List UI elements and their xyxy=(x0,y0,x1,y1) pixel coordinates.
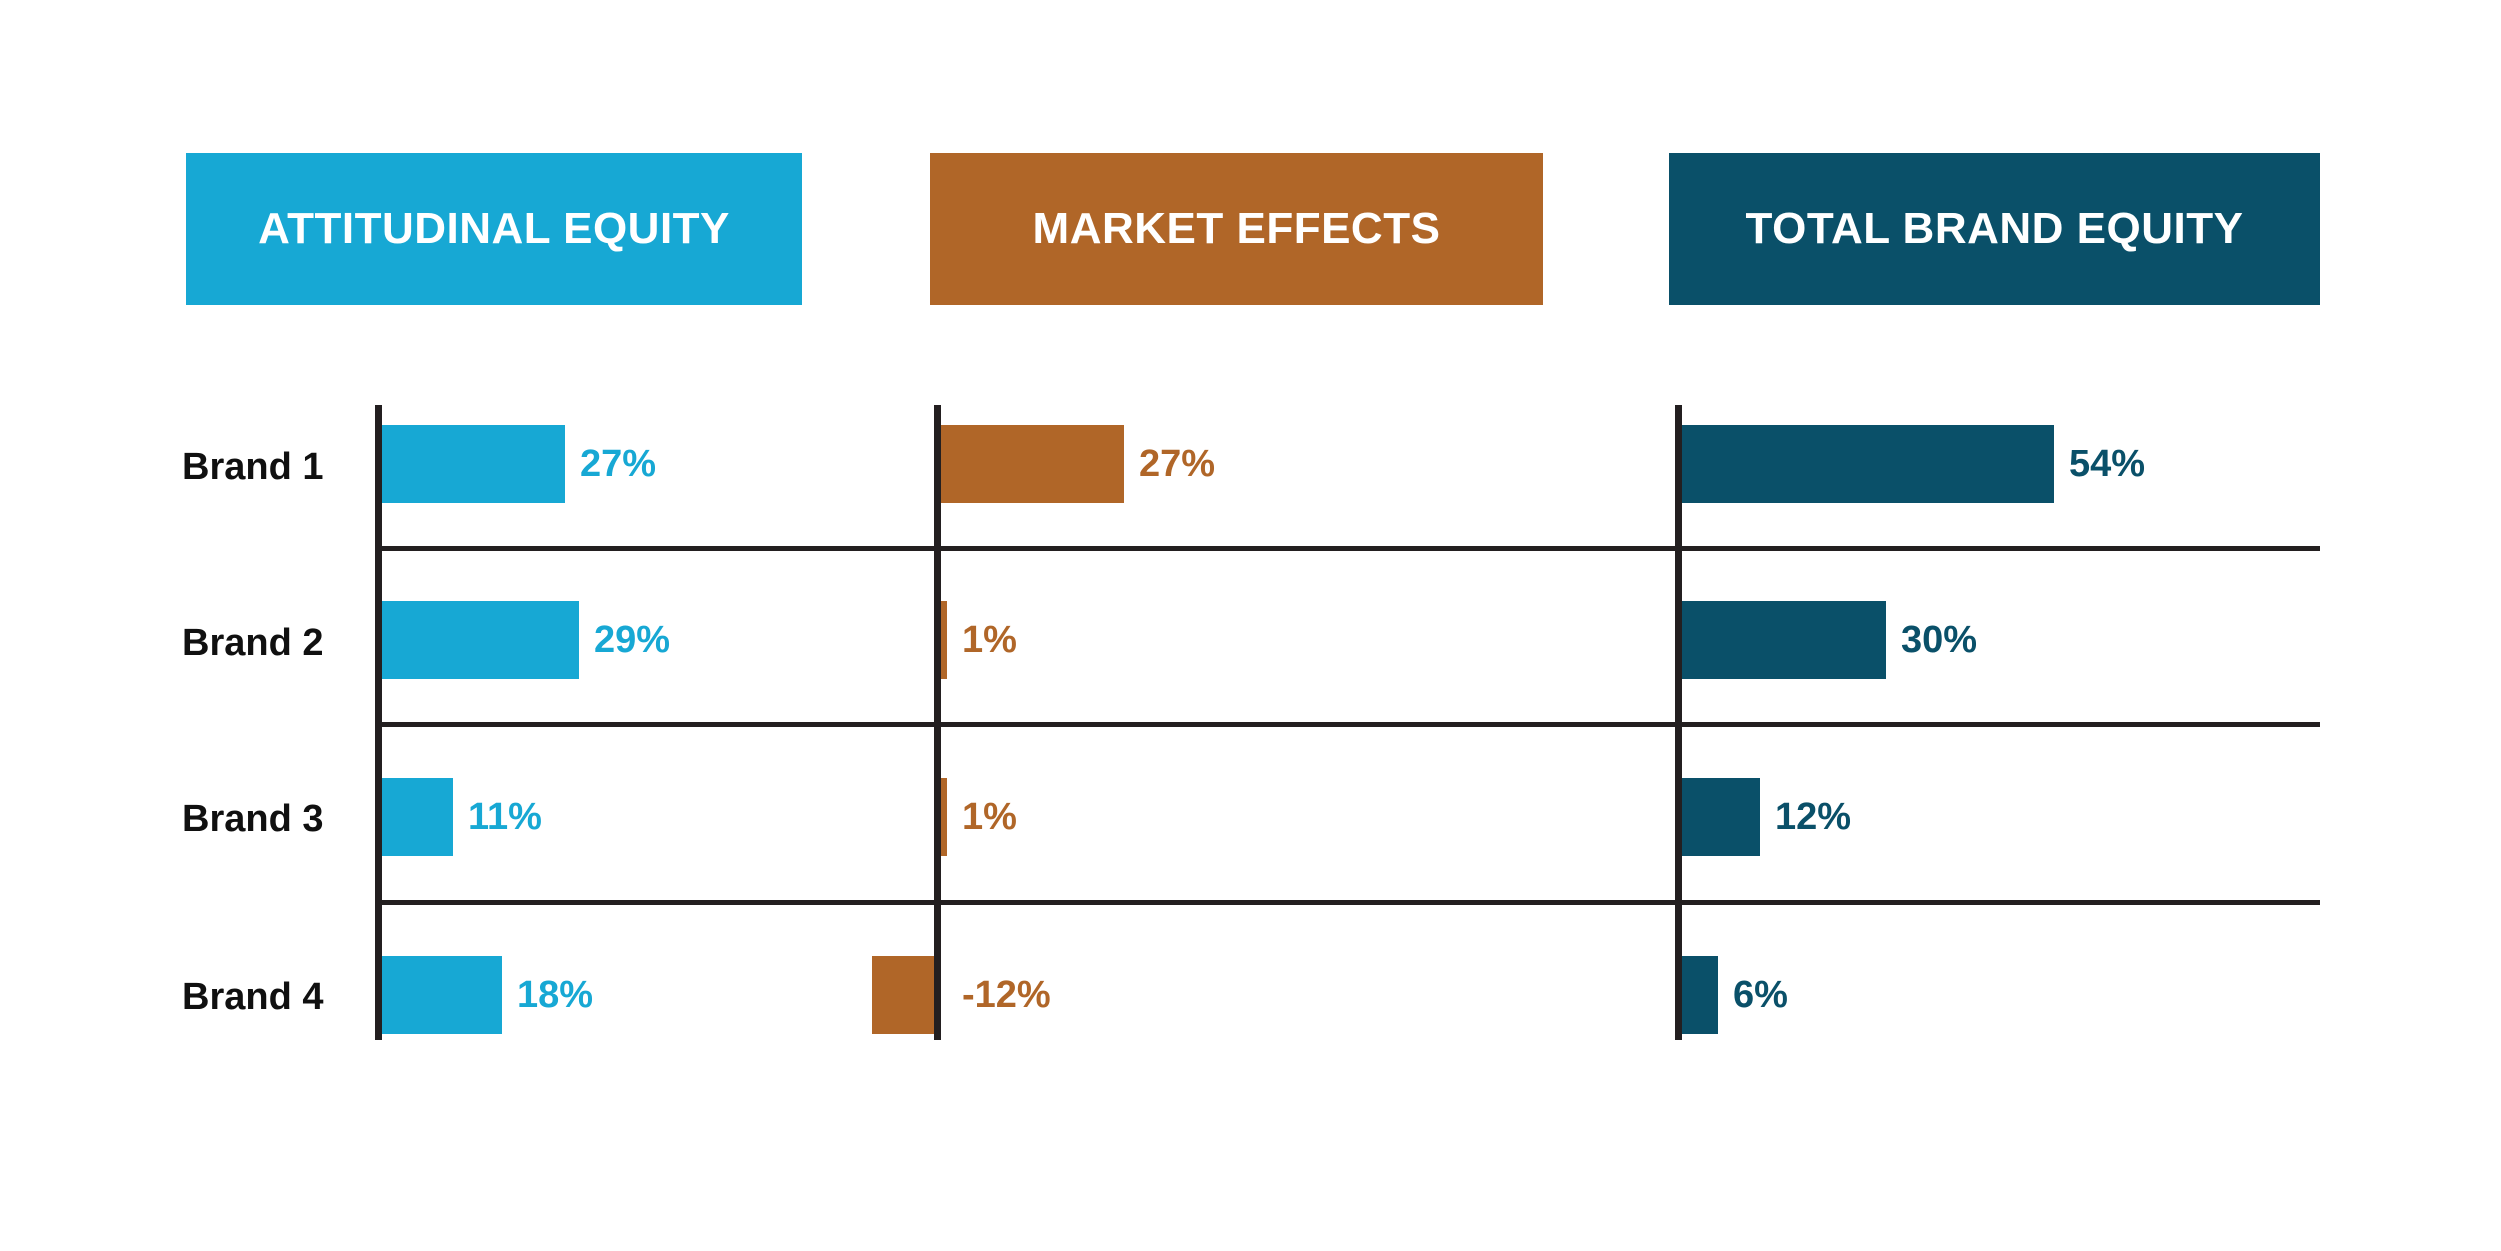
bar-market-effects-brand-4[interactable] xyxy=(872,956,934,1034)
bar-value-label: -12% xyxy=(962,976,1051,1014)
bar-attitudinal-equity-brand-3[interactable] xyxy=(375,778,453,856)
row-separator xyxy=(375,722,2320,727)
bar-attitudinal-equity-brand-1[interactable] xyxy=(375,425,565,503)
baseline-axis xyxy=(934,405,941,1040)
column-header-label: ATTITUDINAL EQUITY xyxy=(258,207,730,251)
bar-total-brand-equity-brand-3[interactable] xyxy=(1675,778,1760,856)
bar-value-label: 1% xyxy=(962,621,1017,659)
row-separator xyxy=(375,900,2320,905)
column-header-attitudinal-equity: ATTITUDINAL EQUITY xyxy=(186,153,802,305)
bar-value-label: 12% xyxy=(1775,798,1851,836)
column-header-label: TOTAL BRAND EQUITY xyxy=(1746,207,2244,251)
row-label-brand-1: Brand 1 xyxy=(182,448,352,486)
row-label-brand-4: Brand 4 xyxy=(182,978,352,1016)
bar-attitudinal-equity-brand-2[interactable] xyxy=(375,601,579,679)
baseline-axis xyxy=(375,405,382,1040)
row-label-brand-2: Brand 2 xyxy=(182,624,352,662)
chart-canvas: ATTITUDINAL EQUITY MARKET EFFECTS TOTAL … xyxy=(0,0,2501,1251)
bar-value-label: 11% xyxy=(468,798,542,836)
bar-value-label: 29% xyxy=(594,621,670,659)
baseline-axis xyxy=(1675,405,1682,1040)
row-separator xyxy=(375,546,2320,551)
bar-total-brand-equity-brand-2[interactable] xyxy=(1675,601,1886,679)
bar-market-effects-brand-1[interactable] xyxy=(934,425,1124,503)
bar-attitudinal-equity-brand-4[interactable] xyxy=(375,956,502,1034)
column-header-market-effects: MARKET EFFECTS xyxy=(930,153,1543,305)
bar-value-label: 6% xyxy=(1733,976,1788,1014)
column-header-label: MARKET EFFECTS xyxy=(1033,207,1441,251)
bar-value-label: 27% xyxy=(1139,445,1215,483)
bar-value-label: 27% xyxy=(580,445,656,483)
bar-value-label: 1% xyxy=(962,798,1017,836)
bar-value-label: 54% xyxy=(2069,445,2145,483)
column-header-total-brand-equity: TOTAL BRAND EQUITY xyxy=(1669,153,2320,305)
bar-total-brand-equity-brand-1[interactable] xyxy=(1675,425,2054,503)
bar-value-label: 30% xyxy=(1901,621,1977,659)
bar-value-label: 18% xyxy=(517,976,593,1014)
row-label-brand-3: Brand 3 xyxy=(182,800,352,838)
